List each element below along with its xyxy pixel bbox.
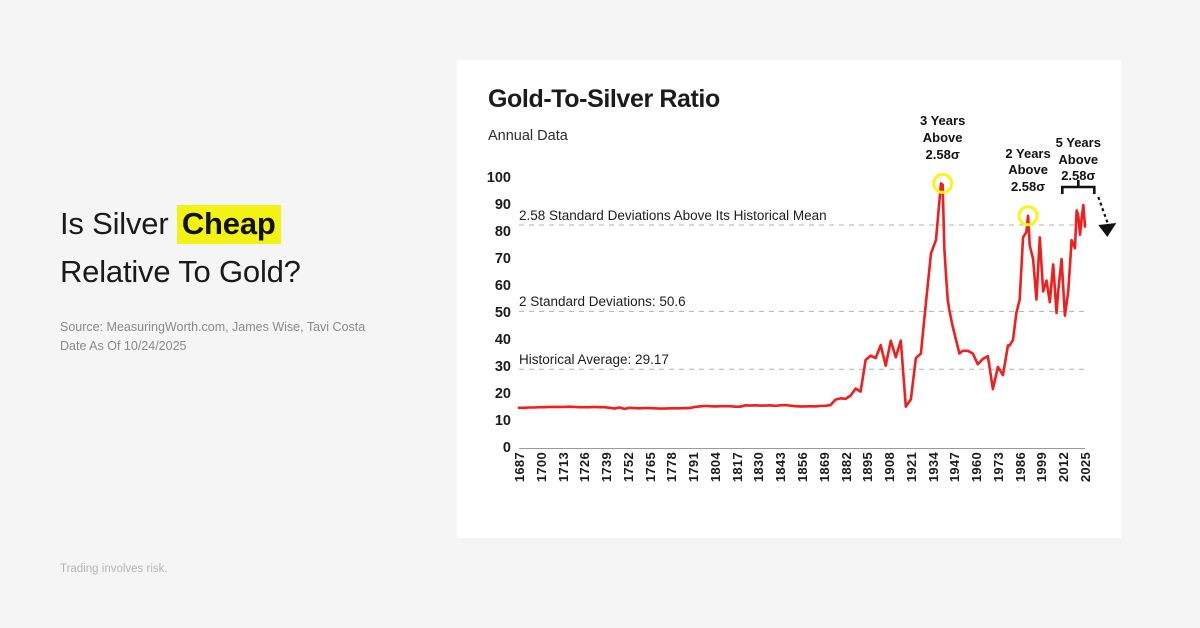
x-axis-tick-1713: 1713 — [556, 452, 571, 482]
y-axis-tick-50: 50 — [477, 305, 511, 321]
x-axis-tick-2025: 2025 — [1078, 452, 1093, 482]
y-axis-tick-90: 90 — [477, 197, 511, 213]
callout-peak-2020s: 5 YearsAbove2.58σ — [1033, 135, 1123, 185]
y-axis-tick-30: 30 — [477, 359, 511, 375]
x-axis-tick-1895: 1895 — [860, 452, 875, 482]
x-axis-tick-1973: 1973 — [991, 452, 1006, 482]
source-line: Source: MeasuringWorth.com, James Wise, … — [60, 318, 440, 337]
y-axis-tick-40: 40 — [477, 332, 511, 348]
y-axis-tick-20: 20 — [477, 386, 511, 402]
x-axis-tick-2012: 2012 — [1056, 452, 1071, 482]
y-axis-tick-100: 100 — [477, 170, 511, 186]
y-axis-tick-80: 80 — [477, 224, 511, 240]
y-axis-tick-10: 10 — [477, 413, 511, 429]
x-axis-tick-1856: 1856 — [795, 452, 810, 482]
reference-label-mean: Historical Average: 29.17 — [519, 352, 669, 367]
x-axis-tick-1869: 1869 — [817, 452, 832, 482]
callout-peak-1940-line-1: 3 Years — [898, 113, 988, 130]
x-axis-tick-1908: 1908 — [882, 452, 897, 482]
x-axis-tick-1817: 1817 — [730, 452, 745, 482]
y-axis-tick-0: 0 — [477, 440, 511, 456]
risk-disclaimer: Trading involves risk. — [60, 563, 168, 575]
x-axis-tick-1960: 1960 — [969, 452, 984, 482]
page-title: Is Silver Cheap Relative To Gold? — [60, 200, 450, 297]
x-axis-tick-1934: 1934 — [926, 452, 941, 482]
headline-highlight: Cheap — [177, 205, 281, 244]
reference-label-sigma258: 2.58 Standard Deviations Above Its Histo… — [519, 208, 827, 223]
chart-title: Gold-To-Silver Ratio — [488, 85, 720, 114]
x-axis-tick-1752: 1752 — [621, 452, 636, 482]
x-axis-line — [519, 448, 1085, 449]
headline-line-2: Relative To Gold? — [60, 248, 450, 296]
chart-card: Gold-To-Silver Ratio Annual Data 1009080… — [457, 60, 1121, 538]
headline-prefix: Is Silver — [60, 206, 177, 241]
x-axis-tick-1999: 1999 — [1034, 452, 1049, 482]
callout-peak-2020s-line-1: 5 Years — [1033, 135, 1123, 152]
chart-subtitle: Annual Data — [488, 128, 568, 144]
x-axis-tick-1882: 1882 — [839, 452, 854, 482]
callout-peak-2020s-line-3: 2.58σ — [1033, 168, 1123, 185]
x-axis-tick-1947: 1947 — [947, 452, 962, 482]
callout-peak-2020s-line-2: Above — [1033, 152, 1123, 169]
callout-peak-1940-line-3: 2.58σ — [898, 147, 988, 164]
x-axis-tick-1778: 1778 — [664, 452, 679, 482]
source-attribution: Source: MeasuringWorth.com, James Wise, … — [60, 318, 440, 356]
x-axis-tick-1739: 1739 — [599, 452, 614, 482]
left-panel: Is Silver Cheap Relative To Gold? Source… — [0, 0, 457, 628]
callout-peak-1940: 3 YearsAbove2.58σ — [898, 113, 988, 163]
x-axis-tick-1804: 1804 — [708, 452, 723, 482]
callout-peak-1940-line-2: Above — [898, 130, 988, 147]
x-axis-tick-1687: 1687 — [512, 452, 527, 482]
x-axis-tick-1830: 1830 — [751, 452, 766, 482]
x-axis-tick-1765: 1765 — [643, 452, 658, 482]
y-axis-tick-60: 60 — [477, 278, 511, 294]
x-axis-tick-1700: 1700 — [534, 452, 549, 482]
y-axis-tick-70: 70 — [477, 251, 511, 267]
date-line: Date As Of 10/24/2025 — [60, 337, 440, 356]
y-axis: 1009080706050403020100 — [471, 178, 511, 448]
reference-label-sigma2: 2 Standard Deviations: 50.6 — [519, 294, 686, 309]
headline-line-1: Is Silver Cheap — [60, 200, 450, 248]
x-axis-tick-1843: 1843 — [773, 452, 788, 482]
x-axis: 1687170017131726173917521765177817911804… — [519, 452, 1085, 532]
x-axis-tick-1726: 1726 — [577, 452, 592, 482]
x-axis-tick-1791: 1791 — [686, 452, 701, 482]
x-axis-tick-1986: 1986 — [1013, 452, 1028, 482]
x-axis-tick-1921: 1921 — [904, 452, 919, 482]
